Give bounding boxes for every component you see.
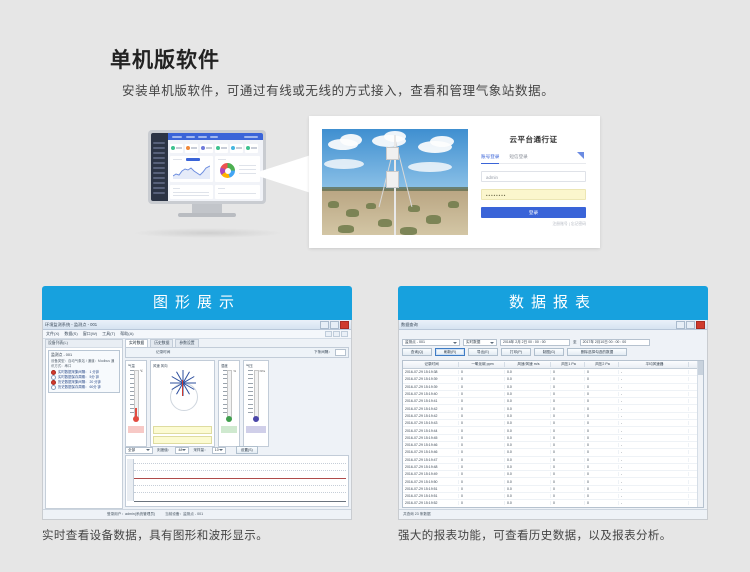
minimize-button[interactable]	[320, 321, 329, 329]
table-cell: 0	[585, 472, 619, 476]
table-cell: 0.0	[505, 501, 551, 505]
table-cell: 0	[459, 421, 505, 425]
pressure-bar-icon: hPa	[246, 368, 266, 424]
gauge-temperature: 气温 ℃	[125, 360, 147, 447]
table-cell: 2016-07-29 15:19:39	[403, 385, 459, 389]
table-cell: 0	[551, 501, 585, 505]
monitor-screen	[151, 133, 263, 201]
gauge-unit: hPa	[260, 369, 265, 373]
column-pressure1: 风压1 Pa	[551, 362, 585, 367]
table-cell: 2016-07-29 15:19:39	[403, 377, 459, 381]
weather-station-photo	[322, 129, 468, 235]
table-cell: 0	[551, 429, 585, 433]
table-cell: 0	[551, 385, 585, 389]
password-field[interactable]: ••••••••	[481, 189, 586, 200]
radio-icon[interactable]	[51, 385, 56, 390]
filter-row: 监测点 - 001 实时数据 2016年 2月 2日 00 : 00 : 00 …	[402, 339, 704, 346]
table-cell: 0	[585, 414, 619, 418]
mdi-controls[interactable]	[325, 331, 348, 337]
table-cell: 2016-07-29 15:19:51	[403, 494, 459, 498]
table-cell: 2016-07-29 15:19:42	[403, 414, 459, 418]
table-cell: 0.0	[505, 480, 551, 484]
record-time-label: 记录时间	[156, 350, 170, 355]
sensor-box-lower	[386, 171, 399, 188]
table-cell: -	[619, 480, 689, 484]
line-chart	[173, 165, 210, 179]
table-cell: 2016-07-29 15:19:48	[403, 465, 459, 469]
table-cell: 0	[459, 392, 505, 396]
device-group-note: 设备类型：自动气象站 / 通道：Modbus 通讯方式：串口	[51, 359, 117, 368]
table-cell: 0.0	[505, 487, 551, 491]
forgot-password-link[interactable]: 忘记密码	[571, 222, 586, 226]
table-cell: 0	[585, 465, 619, 469]
table-cell: 0	[459, 399, 505, 403]
column-record-time: 记录时间	[403, 362, 459, 367]
gauge-value-swatch	[246, 426, 266, 433]
table-cell: -	[619, 450, 689, 454]
corner-ribbon-icon	[577, 152, 584, 159]
gauge-value-swatch	[128, 426, 144, 433]
wave-scale-select[interactable]: 48	[175, 447, 189, 454]
table-cell: 0.0	[505, 414, 551, 418]
table-cell: -	[619, 443, 689, 447]
table-row[interactable]: 2016-07-29 15:19:3800.000-	[403, 369, 703, 376]
expand-arrow-icon	[258, 154, 314, 194]
table-row[interactable]: 2016-07-29 15:19:4700.000-	[403, 457, 703, 464]
table-row[interactable]: 2016-07-29 15:19:4000.000-	[403, 391, 703, 398]
card-data-report: 数据报表 数据查询 监测点 - 001 实时数据 2016年 2月 2日 00	[398, 286, 708, 544]
waveform-x-axis	[134, 501, 346, 502]
gauge-value-swatch	[221, 426, 237, 433]
card-graphic-display: 图形展示 环境监测系统 - 监测点 - 001 文件(X) 数据(S) 窗口(W…	[42, 286, 352, 544]
query-button[interactable]: 查询(Q)	[402, 348, 432, 356]
table-cell: 0	[585, 377, 619, 381]
table-row[interactable]: 2016-07-29 15:19:4800.000-	[403, 464, 703, 471]
table-cell: 0.0	[505, 429, 551, 433]
table-cell: 2016-07-29 15:19:45	[403, 436, 459, 440]
table-cell: 0	[459, 458, 505, 462]
column-wind-speed: 风速/风速 m/s	[505, 362, 551, 367]
realtime-toolbar[interactable]: 记录时间 下条间隔：	[125, 347, 349, 358]
table-cell: 0	[551, 370, 585, 374]
device-list-panel: 设备列表(L) 监测点 - 001 设备类型：自动气象站 / 通道：Modbus…	[45, 339, 123, 509]
window-titlebar: 数据查询	[399, 320, 707, 330]
desktop-monitor	[148, 130, 266, 214]
table-cell: -	[619, 494, 689, 498]
table-cell: 0.0	[505, 370, 551, 374]
device-list-label: 设备列表(L)	[46, 340, 122, 348]
waveform-section: 全部 刻度值： 48 采样量： 10 设置(S)	[125, 446, 349, 508]
window-titlebar: 环境监测系统 - 监测点 - 001	[43, 320, 351, 330]
card-header-graphic: 图形展示	[42, 286, 352, 320]
register-link[interactable]: 注册账号	[553, 222, 568, 226]
table-cell: 0.0	[505, 450, 551, 454]
action-row: 查询(Q) 刷新(R) 导出(E) 打印(P) 制图(G) 删除选择勾选的数据	[402, 348, 704, 356]
table-cell: 0	[459, 414, 505, 418]
table-cell: 0	[585, 458, 619, 462]
table-cell: 2016-07-29 15:19:41	[403, 399, 459, 403]
table-cell: 2016-07-29 15:19:40	[403, 392, 459, 396]
table-cell: 0	[459, 465, 505, 469]
donut-chart	[220, 163, 235, 178]
maximize-button[interactable]	[686, 321, 695, 329]
table-cell: 0	[459, 370, 505, 374]
table-cell: 0	[459, 501, 505, 505]
table-cell: 0	[585, 370, 619, 374]
window-controls[interactable]	[320, 321, 349, 329]
dashboard-body	[168, 140, 263, 201]
gauge-unit: ℃	[140, 369, 143, 373]
login-submit-button[interactable]: 登录	[481, 207, 586, 218]
interval-input[interactable]	[335, 349, 346, 356]
table-cell: 2016-07-29 15:19:51	[403, 487, 459, 491]
sensor-box-upper	[386, 147, 399, 160]
table-row[interactable]: 2016-07-29 15:19:5000.000-	[403, 478, 703, 485]
card-caption-report: 强大的报表功能，可查看历史数据，以及报表分析。	[398, 528, 708, 544]
menu-window[interactable]: 窗口(W)	[83, 331, 97, 337]
table-row[interactable]: 2016-07-29 15:19:4500.000-	[403, 435, 703, 442]
tab-realtime-data[interactable]: 实时数据	[125, 339, 148, 347]
thermometer-icon: ℃	[128, 368, 144, 424]
column-pressure2: 风压2 Pa	[585, 362, 619, 367]
table-cell: 0	[551, 458, 585, 462]
table-cell: 0	[459, 407, 505, 411]
delete-selected-button[interactable]: 删除选择勾选的数据	[567, 348, 627, 356]
app-preview-panel: 云平台通行证 账号登录 短信登录 admin •••••••• 登录 注册账号 …	[309, 116, 600, 248]
table-cell: 0	[585, 436, 619, 440]
gauge-pressure: 气压 hPa	[243, 360, 269, 447]
monitor-base	[178, 213, 236, 217]
wave-settings-button[interactable]: 设置(S)	[236, 446, 258, 454]
table-scrollbar[interactable]	[697, 361, 703, 507]
table-cell: 0	[585, 392, 619, 396]
table-cell: 2016-07-29 15:19:46	[403, 443, 459, 447]
table-cell: 0.0	[505, 494, 551, 498]
login-title: 云平台通行证	[481, 134, 586, 145]
page-title: 单机版软件	[110, 44, 220, 74]
gauge-unit: %	[233, 369, 236, 373]
table-cell: 0	[551, 487, 585, 491]
interval-label: 下条间隔：	[314, 350, 332, 355]
status-device: 当前设备：监测点 - 001	[165, 512, 203, 517]
wave-channel-select[interactable]: 全部	[125, 447, 153, 454]
dashboard-preview	[151, 133, 263, 201]
login-form: 云平台通行证 账号登录 短信登录 admin •••••••• 登录 注册账号 …	[481, 130, 586, 234]
station-select[interactable]: 监测点 - 001	[402, 339, 460, 346]
table-cell: -	[619, 377, 689, 381]
window-menubar[interactable]: 文件(X) 数据(S) 窗口(W) 工具(T) 帮助(A)	[43, 330, 351, 339]
table-cell: 0	[459, 450, 505, 454]
table-cell: 0.0	[505, 392, 551, 396]
app-window-monitoring: 环境监测系统 - 监测点 - 001 文件(X) 数据(S) 窗口(W) 工具(…	[43, 320, 351, 519]
monitor-shadow	[132, 228, 284, 238]
table-cell: 0.0	[505, 436, 551, 440]
maximize-button[interactable]	[330, 321, 339, 329]
tab-sms-login[interactable]: 短信登录	[509, 154, 527, 160]
table-cell: -	[619, 370, 689, 374]
table-cell: -	[619, 436, 689, 440]
table-cell: 0.0	[505, 465, 551, 469]
gauge-humidity: 湿度 %	[218, 360, 240, 447]
table-row[interactable]: 2016-07-29 15:19:5100.000-	[403, 486, 703, 493]
table-cell: -	[619, 487, 689, 491]
table-cell: 0	[585, 443, 619, 447]
table-cell: 2016-07-29 15:19:42	[403, 407, 459, 411]
table-cell: 2016-07-29 15:19:47	[403, 458, 459, 462]
app-window-query: 数据查询 监测点 - 001 实时数据 2016年 2月 2日 00 : 00 …	[399, 320, 707, 519]
table-cell: 2016-07-29 15:19:43	[403, 421, 459, 425]
card-header-report: 数据报表	[398, 286, 708, 320]
waveform-chart	[125, 455, 349, 507]
table-row[interactable]: 2016-07-29 15:19:4600.000-	[403, 442, 703, 449]
menu-help[interactable]: 帮助(A)	[120, 331, 133, 337]
table-cell: 0	[585, 494, 619, 498]
screenshot-graphic-display: 环境监测系统 - 监测点 - 001 文件(X) 数据(S) 窗口(W) 工具(…	[42, 320, 352, 520]
table-cell: 0.0	[505, 421, 551, 425]
table-cell: 0.0	[505, 399, 551, 403]
print-button[interactable]: 打印(P)	[501, 348, 531, 356]
table-cell: 0	[585, 450, 619, 454]
wind-dir-bar	[153, 436, 212, 444]
panel-tabs[interactable]: 实时数据 历史数据 参数设置	[125, 339, 349, 347]
table-cell: 0	[459, 429, 505, 433]
tab-settings[interactable]: 参数设置	[175, 339, 198, 347]
table-cell: 0	[551, 443, 585, 447]
table-cell: 0	[459, 385, 505, 389]
table-cell: 2016-07-29 15:19:44	[403, 429, 459, 433]
table-row[interactable]: 2016-07-29 15:19:4900.000-	[403, 471, 703, 478]
table-header-row: 记录时间 一氧化碳 ppm 风速/风速 m/s 风压1 Pa 风压2 Pa 平均…	[403, 361, 703, 369]
table-cell: -	[619, 399, 689, 403]
table-cell: 0	[551, 399, 585, 403]
login-tabs: 账号登录 短信登录	[481, 154, 586, 164]
table-cell: -	[619, 392, 689, 396]
table-row[interactable]: 2016-07-29 15:19:5200.000-	[403, 500, 703, 507]
status-user: 登录用户：admin(系统管理员)	[107, 512, 155, 517]
table-row[interactable]: 2016-07-29 15:19:4200.000-	[403, 405, 703, 412]
table-cell: 0	[551, 377, 585, 381]
table-cell: 0	[459, 377, 505, 381]
username-field[interactable]: admin	[481, 171, 586, 182]
table-cell: 0	[551, 494, 585, 498]
table-row[interactable]: 2016-07-29 15:19:4100.000-	[403, 398, 703, 405]
table-cell: 2016-07-29 15:19:38	[403, 370, 459, 374]
option-label: 历史数据保存周期： 60分 钟	[58, 385, 101, 390]
window-title: 环境监测系统 - 监测点 - 001	[45, 322, 97, 328]
table-cell: 0	[459, 487, 505, 491]
table-cell: 0	[551, 450, 585, 454]
table-cell: 2016-07-29 15:19:49	[403, 472, 459, 476]
table-cell: 0.0	[505, 407, 551, 411]
export-button[interactable]: 导出(E)	[468, 348, 498, 356]
table-cell: 0.0	[505, 458, 551, 462]
hero-section: 云平台通行证 账号登录 短信登录 admin •••••••• 登录 注册账号 …	[0, 108, 750, 258]
wave-sample-select[interactable]: 10	[212, 447, 226, 454]
device-group-title[interactable]: 监测点 - 001	[51, 353, 117, 358]
window-title: 数据查询	[401, 322, 418, 328]
table-cell: 2016-07-29 15:19:52	[403, 501, 459, 505]
dashboard-topbar	[168, 133, 263, 140]
column-avg-anemometer: 平均风速器	[619, 362, 689, 367]
table-cell: 0	[551, 407, 585, 411]
table-cell: 0	[585, 480, 619, 484]
table-cell: 0	[585, 421, 619, 425]
table-cell: 0.0	[505, 443, 551, 447]
table-cell: 0	[459, 436, 505, 440]
table-cell: 0	[551, 421, 585, 425]
table-cell: -	[619, 421, 689, 425]
table-cell: 0	[551, 480, 585, 484]
table-cell: 0	[585, 385, 619, 389]
refresh-button[interactable]: 刷新(R)	[435, 348, 465, 356]
table-cell: 0.0	[505, 377, 551, 381]
table-cell: 0	[551, 472, 585, 476]
tab-account-login[interactable]: 账号登录	[481, 154, 499, 164]
table-cell: 0	[459, 494, 505, 498]
close-button[interactable]	[696, 321, 705, 329]
option-row[interactable]: 历史数据保存周期： 60分 钟	[51, 385, 117, 390]
table-cell: 0	[585, 399, 619, 403]
window-statusbar: 登录用户：admin(系统管理员) 当前设备：监测点 - 001	[43, 509, 351, 519]
table-row[interactable]: 2016-07-29 15:19:4300.000-	[403, 420, 703, 427]
start-datetime-input[interactable]: 2016年 2月 2日 00 : 00 : 00	[500, 339, 570, 346]
screenshot-data-report: 数据查询 监测点 - 001 实时数据 2016年 2月 2日 00 : 00 …	[398, 320, 708, 520]
table-cell: 2016-07-29 15:19:50	[403, 480, 459, 484]
table-cell: -	[619, 429, 689, 433]
end-datetime-input[interactable]: 2017年 2月10日 00 : 00 : 00	[580, 339, 650, 346]
table-cell: 0	[585, 501, 619, 505]
waveform-trace	[134, 478, 346, 479]
close-button[interactable]	[340, 321, 349, 329]
table-cell: -	[619, 385, 689, 389]
humidity-bar-icon: %	[221, 368, 237, 424]
table-row[interactable]: 2016-07-29 15:19:4400.000-	[403, 427, 703, 434]
menu-data[interactable]: 数据(S)	[64, 331, 77, 337]
table-cell: 0	[585, 429, 619, 433]
datatype-select[interactable]: 实时数据	[463, 339, 497, 346]
table-cell: 0	[551, 392, 585, 396]
gauge-wind: 风速 风向	[150, 360, 215, 447]
menu-file[interactable]: 文件(X)	[46, 331, 59, 337]
table-cell: 0	[459, 480, 505, 484]
range-to-label: 至	[573, 340, 577, 345]
window-controls[interactable]	[676, 321, 705, 329]
table-cell: -	[619, 407, 689, 411]
table-row[interactable]: 2016-07-29 15:19:4600.000-	[403, 449, 703, 456]
data-table[interactable]: 记录时间 一氧化碳 ppm 风速/风速 m/s 风压1 Pa 风压2 Pa 平均…	[402, 360, 704, 508]
device-group-box: 监测点 - 001 设备类型：自动气象站 / 通道：Modbus 通讯方式：串口…	[48, 350, 120, 393]
tab-history-data[interactable]: 历史数据	[150, 339, 173, 347]
table-cell: -	[619, 465, 689, 469]
column-co: 一氧化碳 ppm	[459, 362, 505, 367]
table-cell: 0	[551, 414, 585, 418]
monitor-stand	[192, 204, 222, 213]
minimize-button[interactable]	[676, 321, 685, 329]
dashboard-sidebar	[151, 133, 168, 201]
gauge-row: 气温 ℃ 风速 风向	[125, 360, 349, 447]
card-caption-graphic: 实时查看设备数据，具有图形和波形显示。	[42, 528, 352, 544]
waveform-y-axis	[127, 459, 134, 501]
wind-value-bar	[153, 426, 212, 434]
table-cell: -	[619, 472, 689, 476]
compass-icon	[153, 368, 212, 424]
table-cell: -	[619, 414, 689, 418]
page-root: 单机版软件 安装单机版软件，可通过有线或无线的方式接入，查看和管理气象站数据。	[0, 0, 750, 572]
table-cell: 0.0	[505, 472, 551, 476]
table-cell: 2016-07-29 15:19:46	[403, 450, 459, 454]
status-count: 共查询 23 条数据	[403, 512, 431, 517]
menu-tools[interactable]: 工具(T)	[102, 331, 115, 337]
table-cell: 0	[585, 487, 619, 491]
table-row[interactable]: 2016-07-29 15:19:3900.000-	[403, 384, 703, 391]
table-cell: 0.0	[505, 385, 551, 389]
query-toolbar: 监测点 - 001 实时数据 2016年 2月 2日 00 : 00 : 00 …	[402, 339, 704, 358]
table-cell: -	[619, 458, 689, 462]
login-footer-links[interactable]: 注册账号 | 忘记密码	[481, 222, 586, 227]
table-cell: -	[619, 501, 689, 505]
table-row[interactable]: 2016-07-29 15:19:5100.000-	[403, 493, 703, 500]
waveform-toolbar[interactable]: 全部 刻度值： 48 采样量： 10 设置(S)	[125, 446, 349, 454]
table-cell: 0	[551, 436, 585, 440]
wave-scale-label: 刻度值：	[157, 448, 171, 453]
table-cell: 0	[459, 443, 505, 447]
table-row[interactable]: 2016-07-29 15:19:4200.000-	[403, 413, 703, 420]
chart-button[interactable]: 制图(G)	[534, 348, 564, 356]
table-cell: 0	[585, 407, 619, 411]
wave-sample-label: 采样量：	[193, 448, 207, 453]
table-cell: 0	[551, 465, 585, 469]
page-subtitle: 安装单机版软件，可通过有线或无线的方式接入，查看和管理气象站数据。	[122, 80, 554, 99]
table-row[interactable]: 2016-07-29 15:19:3900.000-	[403, 376, 703, 383]
table-body: 2016-07-29 15:19:3800.000-2016-07-29 15:…	[403, 369, 703, 508]
window-statusbar: 共查询 23 条数据	[399, 509, 707, 519]
scrollbar-thumb[interactable]	[698, 361, 703, 375]
table-cell: 0	[459, 472, 505, 476]
